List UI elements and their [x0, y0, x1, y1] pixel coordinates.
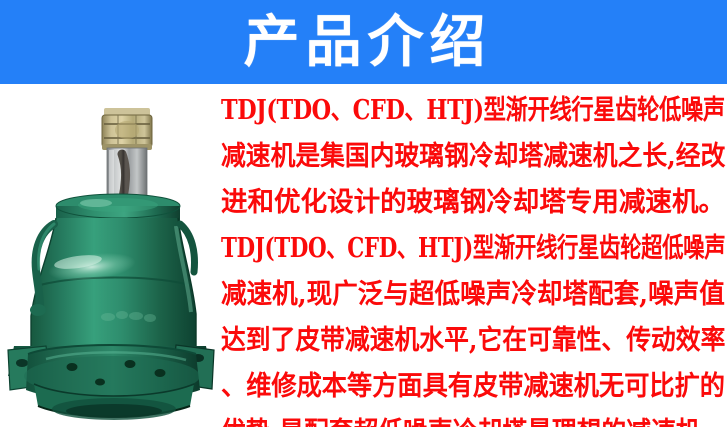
page-header-banner: 产品介绍	[0, 0, 727, 84]
shaft-nut	[102, 108, 152, 150]
product-introduction-page: 产品介绍	[0, 0, 727, 427]
page-title: 产品介绍	[0, 0, 727, 84]
description-line: 进和优化设计的玻璃钢冷却塔专用减速机。	[221, 180, 718, 226]
description-line: 优势,是配套超低噪声冷却塔最理想的减速机。	[221, 410, 686, 427]
gear-reducer-photo	[0, 84, 220, 427]
description-line: 减速机是集国内玻璃钢冷却塔减速机之长,经改	[221, 134, 686, 180]
description-line: 达到了皮带减速机水平,它在可靠性、传动效率	[221, 318, 686, 364]
mounting-flange-base	[8, 345, 214, 420]
description-line: TDJ(TDO、CFD、HTJ)型渐开线行星齿轮低噪声	[221, 88, 640, 134]
description-line: 减速机,现广泛与超低噪声冷却塔配套,噪声值	[221, 272, 700, 318]
description-line: 、维修成本等方面具有皮带减速机无可比扩的	[221, 364, 693, 410]
description-line: TDJ(TDO、CFD、HTJ)型渐开线行星齿轮超低噪声	[221, 226, 623, 272]
product-description: TDJ(TDO、CFD、HTJ)型渐开线行星齿轮低噪声 减速机是集国内玻璃钢冷却…	[221, 84, 727, 427]
product-figure	[0, 84, 220, 427]
gearbox-dome-housing	[31, 218, 196, 346]
